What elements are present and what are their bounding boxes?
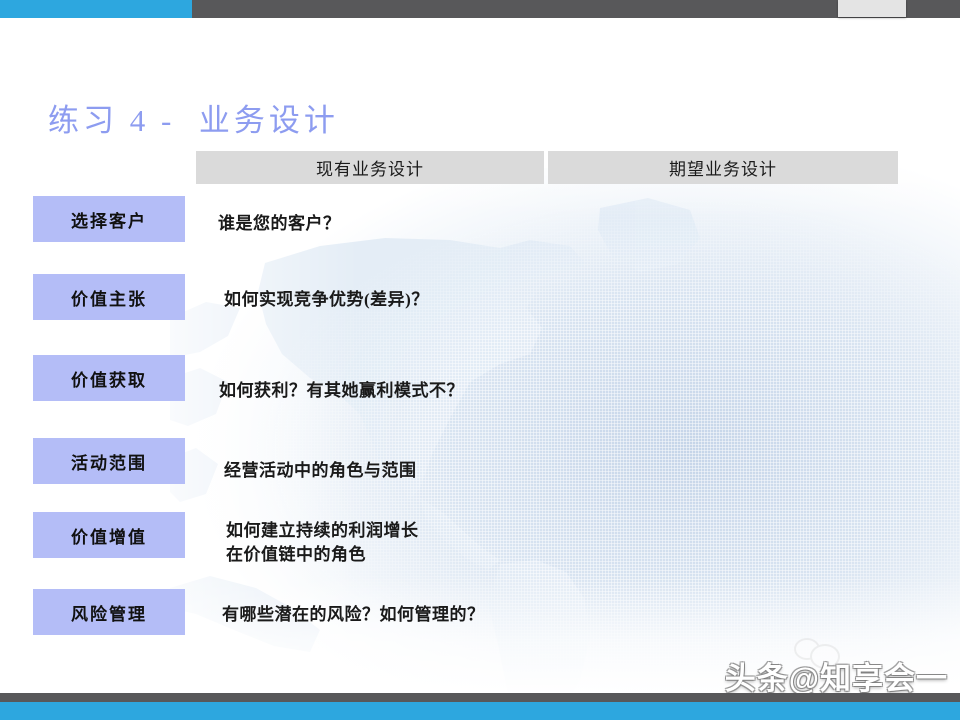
watermark-text: 头条@知享会一 [725,653,948,698]
table-header-row: 现有业务设计 期望业务设计 [196,151,898,184]
top-decoration-bar [0,0,960,18]
category-button-risk-management[interactable]: 风险管理 [33,589,185,635]
question-text-value-capture: 如何获利？有其她赢利模式不？ [219,379,464,403]
category-button-value-add[interactable]: 价值增值 [33,512,185,558]
page-title: 练习 4 - 业务设计 [48,95,339,140]
column-header-desired-design: 期望业务设计 [548,151,898,184]
category-button-value-capture[interactable]: 价值获取 [33,355,185,401]
top-bar-light-chip [838,0,906,17]
question-text-activity-scope: 经营活动中的角色与范围 [224,459,417,483]
column-header-current-design: 现有业务设计 [196,151,544,184]
category-button-activity-scope[interactable]: 活动范围 [33,438,185,484]
question-text-value-add: 如何建立持续的利润增长 在价值链中的角色 [226,519,419,567]
bottom-decoration-bar-blue [0,702,960,720]
question-text-value-proposition: 如何实现竞争优势(差异)？ [224,288,429,312]
category-button-value-proposition[interactable]: 价值主张 [33,274,185,320]
bottom-decoration-bar-gray [0,693,960,702]
slide-canvas: 练习 4 - 业务设计 现有业务设计 期望业务设计 选择客户 价值主张 价值获取… [0,0,960,720]
question-text-select-customer: 谁是您的客户？ [218,212,341,236]
top-bar-blue-segment [0,0,192,18]
question-text-risk-management: 有哪些潜在的风险？如何管理的？ [222,603,485,627]
category-button-select-customer[interactable]: 选择客户 [33,196,185,242]
